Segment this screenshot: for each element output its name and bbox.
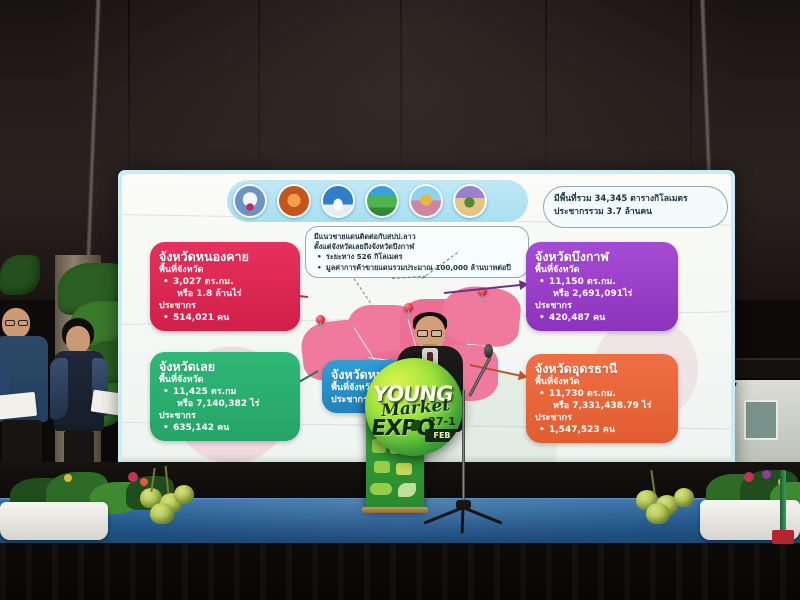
logo-month-text: FEB (425, 429, 459, 442)
province-area-alt: หรือ 7,331,438.79 ไร่ (535, 400, 669, 412)
province-pop-label: ประชากร (159, 300, 291, 312)
province-pop-label: ประชากร (535, 412, 669, 424)
total-population-line: ประชากรรวม 3.7 ล้านคน (554, 206, 717, 219)
cloth-drape-left (0, 502, 108, 540)
province-pop-value: 635,142 คน (159, 422, 291, 434)
photo-scene: มีพื้นที่รวม 34,345 ตารางกิโลเมตร ประชาก… (0, 0, 800, 600)
province-pop-value: 514,021 คน (159, 312, 291, 324)
coconut (646, 503, 670, 524)
callout-line-1: มีแนวชายแดนติดต่อกับสปป.ลาว (314, 232, 520, 242)
microphone-stand (462, 390, 465, 508)
province-area-value: 11,150 ตร.กม. (535, 276, 669, 288)
map-pin-loei (316, 315, 325, 324)
border-info-callout: มีแนวชายแดนติดต่อกับสปป.ลาว ตั้งแต่จังหว… (305, 226, 529, 278)
young-market-expo-logo: YOUNG Market EXPO 27-1 FEB (365, 358, 463, 456)
province-area-alt: หรือ 7,140,382 ไร่ (159, 398, 291, 410)
province-title: จังหวัดอุดรธานี (535, 361, 669, 376)
callout-bullet-distance: ระยะทาง 526 กิโลเมตร (314, 252, 520, 263)
emblem-nongkhai (321, 184, 355, 218)
microphone-head (484, 344, 493, 358)
province-area-label: พื้นที่จังหวัด (535, 264, 669, 276)
province-pop-value: 420,487 คน (535, 312, 669, 324)
province-card-buengkan[interactable]: จังหวัดบึงกาฬ พื้นที่จังหวัด 11,150 ตร.ก… (526, 242, 678, 331)
province-card-nongkhai[interactable]: จังหวัดหนองคาย พื้นที่จังหวัด 3,027 ตร.ก… (150, 242, 300, 331)
province-area-label: พื้นที่จังหวัด (159, 264, 291, 276)
emblem-udonthani (409, 184, 443, 218)
emblem-buengkan (365, 184, 399, 218)
province-card-loei[interactable]: จังหวัดเลย พื้นที่จังหวัด 11,425 ตร.กม ห… (150, 352, 300, 441)
emblem-nongbualamphu (277, 184, 311, 218)
callout-bullet-trade-value: มูลค่าการค้าขายแดนรวมประมาณ 100,000 ล้าน… (314, 263, 520, 274)
province-pop-value: 1,547,523 คน (535, 424, 669, 436)
province-pop-label: ประชากร (535, 300, 669, 312)
province-emblem-strip (227, 180, 528, 222)
province-area-label: พื้นที่จังหวัด (535, 376, 669, 388)
coconut (174, 485, 194, 504)
logo-date-text: 27-1 (428, 415, 456, 428)
province-area-alt: หรือ 1.8 ล้านไร่ (159, 288, 291, 300)
coconut (150, 503, 174, 524)
callout-line-2: ตั้งแต่จังหวัดเลยถึงจังหวัดบึงกาฬ (314, 242, 520, 252)
total-summary-box: มีพื้นที่รวม 34,345 ตารางกิโลเมตร ประชาก… (543, 186, 728, 228)
province-area-value: 3,027 ตร.กม. (159, 276, 291, 288)
logo-date-range: 27-1 FEB (425, 416, 459, 442)
province-title: จังหวัดหนองคาย (159, 249, 291, 264)
emblem-extra (453, 184, 487, 218)
province-area-value: 11,425 ตร.กม (159, 386, 291, 398)
document-sheet (0, 392, 37, 420)
emblem-loei (233, 184, 267, 218)
province-card-udonthani[interactable]: จังหวัดอุดรธานี พื้นที่จังหวัด 11,730 ตร… (526, 354, 678, 443)
province-pop-label: ประชากร (159, 410, 291, 422)
province-title: จังหวัดเลย (159, 359, 291, 374)
province-area-value: 11,730 ตร.กม. (535, 388, 669, 400)
flag (772, 530, 794, 544)
stage-front-skirt (0, 543, 800, 600)
total-area-line: มีพื้นที่รวม 34,345 ตารางกิโลเมตร (554, 193, 717, 206)
coconut (674, 488, 694, 507)
province-title: จังหวัดบึงกาฬ (535, 249, 669, 264)
province-area-label: พื้นที่จังหวัด (159, 374, 291, 386)
province-area-alt: หรือ 2,691,091ไร่ (535, 288, 669, 300)
